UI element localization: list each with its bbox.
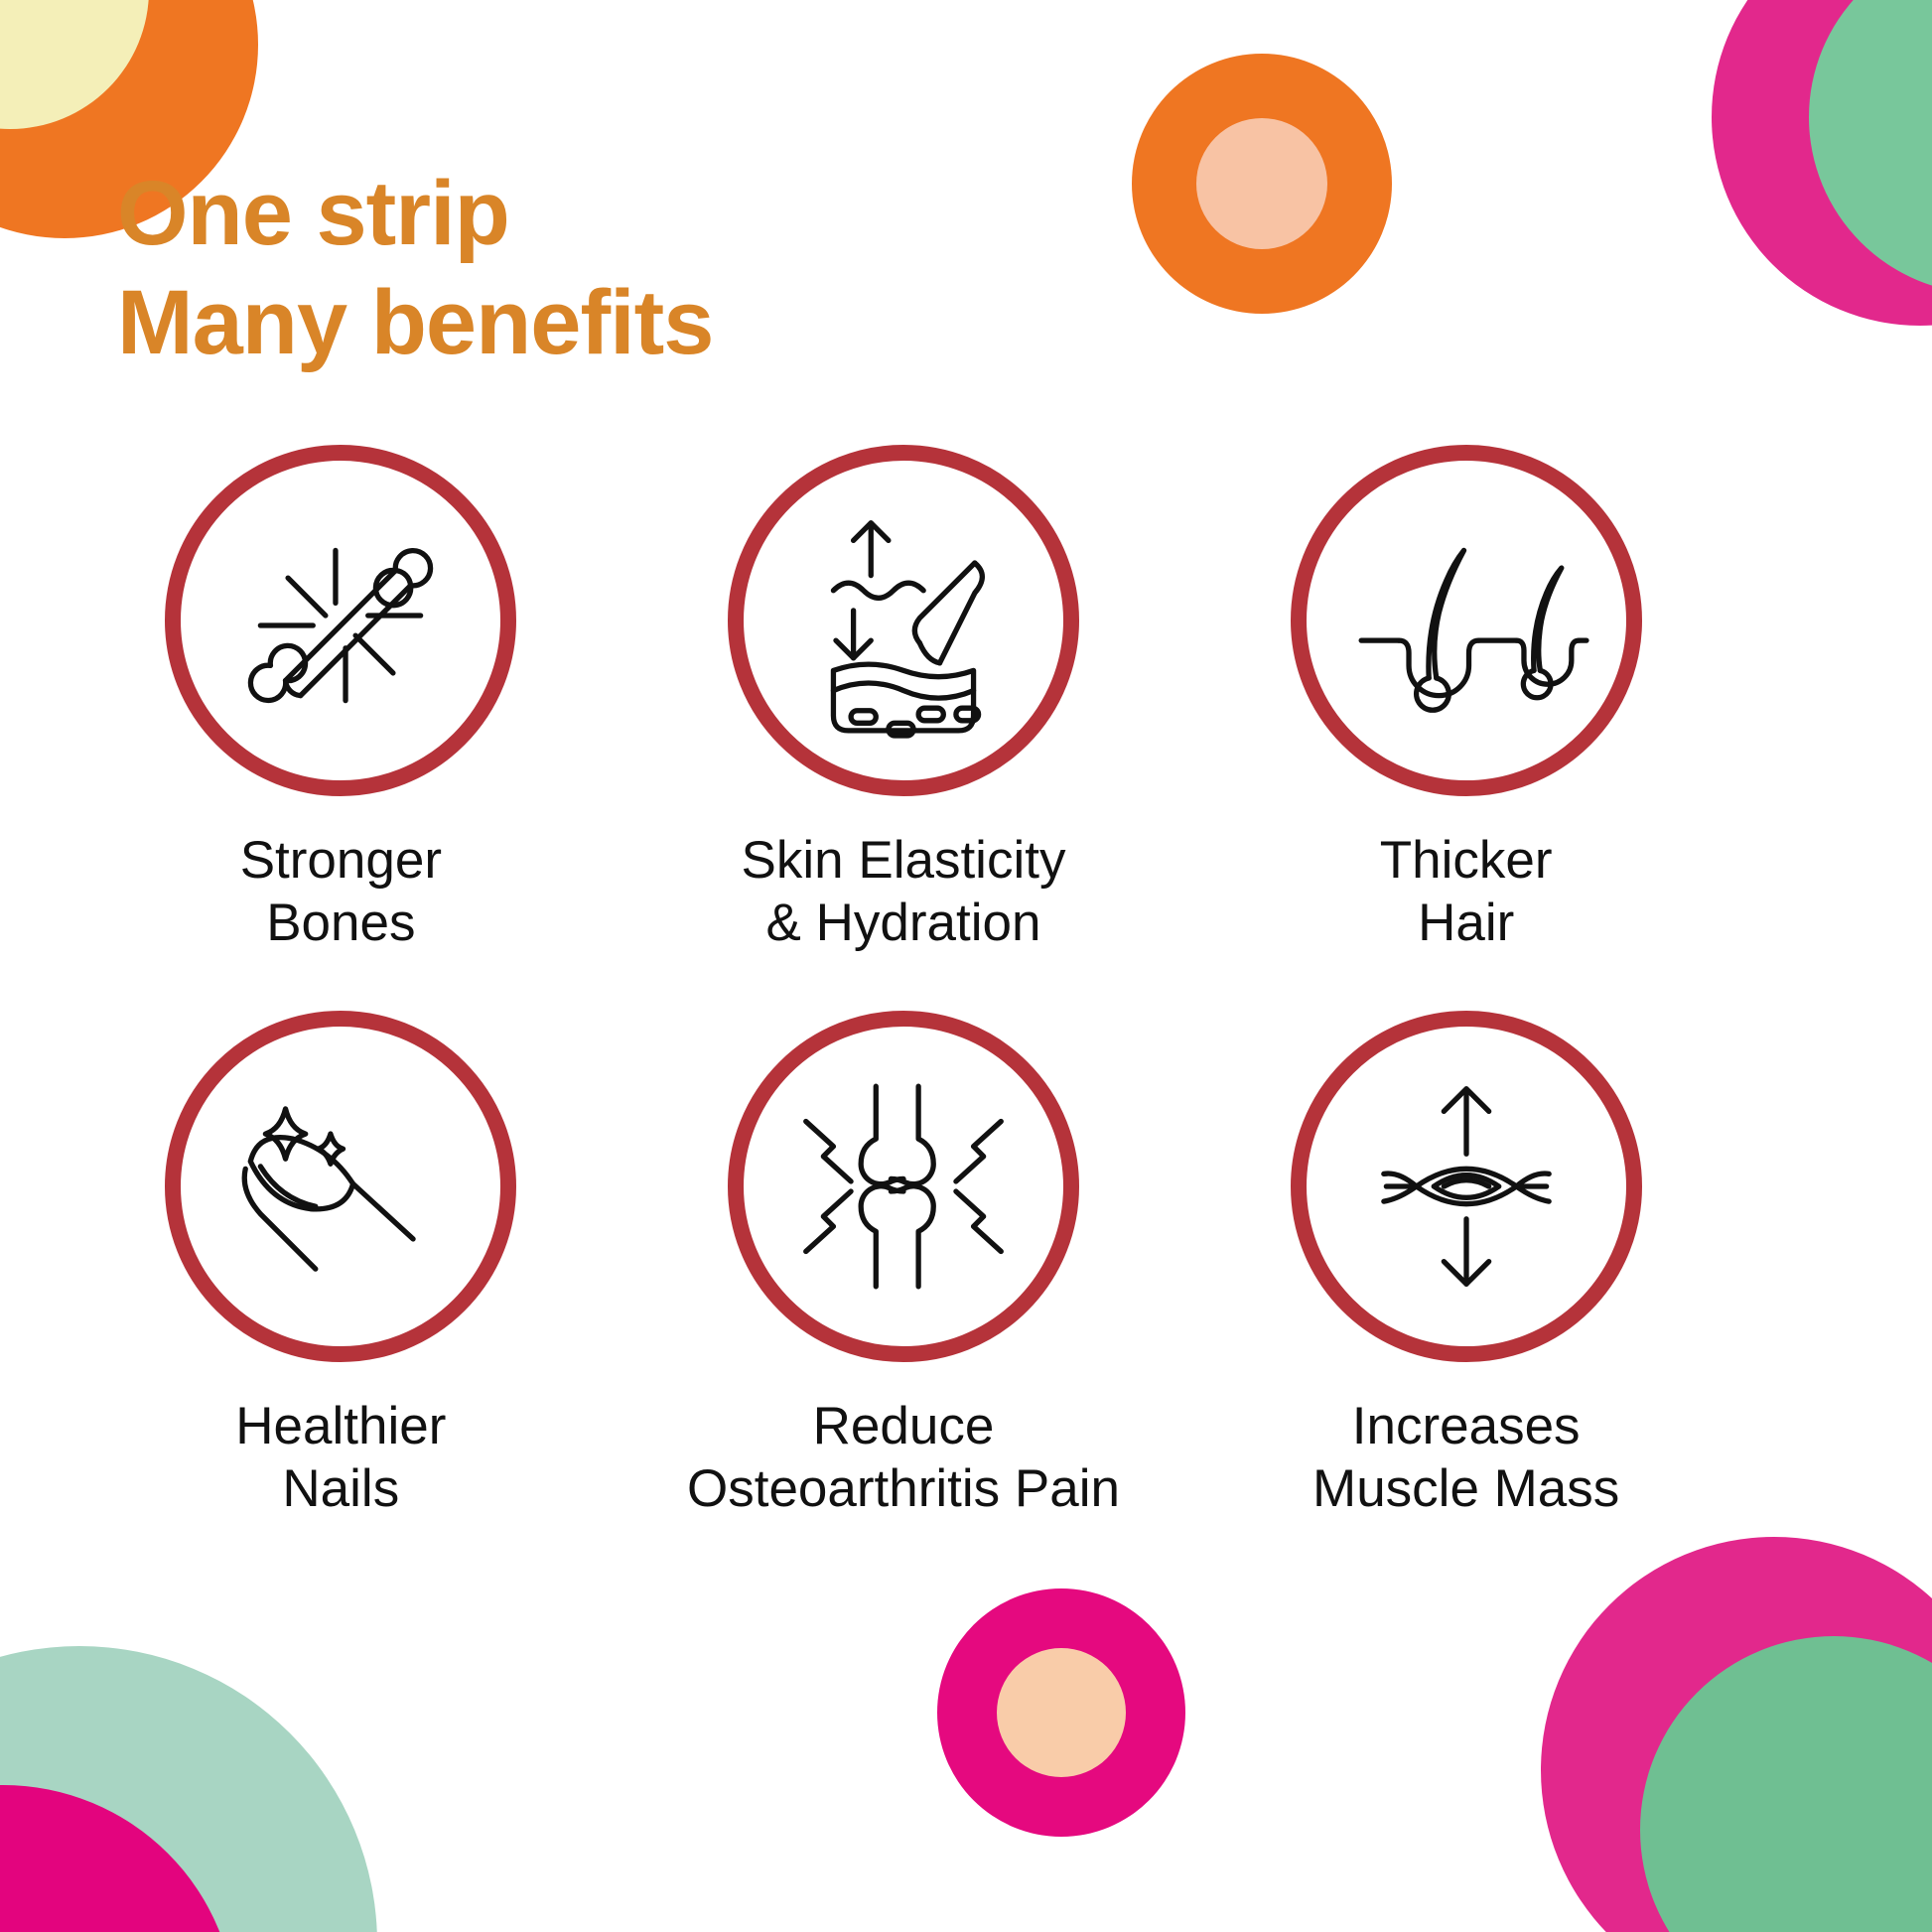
knee-joint-icon	[778, 1061, 1029, 1311]
bone-icon	[215, 495, 466, 746]
bottom-left-circle-outer	[0, 1646, 377, 1932]
bottom-left-circle-inner	[0, 1785, 236, 1932]
muscle-icon	[1341, 1061, 1591, 1311]
top-right-circle-inner	[1809, 0, 1932, 294]
benefit-item-muscle-mass: Increases Muscle Mass	[1184, 1011, 1747, 1567]
bottom-center-circle-outer	[937, 1588, 1185, 1837]
benefit-icon-badge	[1291, 1011, 1642, 1362]
benefit-item-healthier-nails: Healthier Nails	[60, 1011, 622, 1567]
headline-line-1: One strip	[117, 163, 509, 264]
top-right-circle-outer	[1712, 0, 1932, 326]
fingernail-icon	[215, 1061, 466, 1311]
benefit-item-osteoarthritis: Reduce Osteoarthritis Pain	[622, 1011, 1185, 1567]
benefit-icon-badge	[728, 1011, 1079, 1362]
benefit-icon-badge	[165, 445, 516, 796]
hair-follicle-icon	[1341, 495, 1591, 746]
bottom-right-circle-outer	[1541, 1537, 1932, 1932]
benefit-item-thicker-hair: Thicker Hair	[1184, 445, 1747, 1001]
benefit-label: Stronger Bones	[240, 830, 442, 954]
top-orange-circle-outer	[1132, 54, 1392, 314]
benefit-item-stronger-bones: Stronger Bones	[60, 445, 622, 1001]
bottom-right-circle-inner	[1640, 1636, 1932, 1932]
benefits-grid: Stronger Bones	[60, 445, 1747, 1567]
benefit-item-skin-elasticity: Skin Elasticity & Hydration	[622, 445, 1185, 1001]
bottom-center-circle-inner	[997, 1648, 1126, 1777]
benefit-icon-badge	[165, 1011, 516, 1362]
skin-elasticity-icon	[778, 495, 1029, 746]
benefit-label: Healthier Nails	[235, 1396, 446, 1520]
top-orange-circle-inner	[1196, 118, 1327, 249]
headline-line-2: Many benefits	[117, 272, 713, 373]
benefit-label: Increases Muscle Mass	[1312, 1396, 1619, 1520]
benefit-label: Reduce Osteoarthritis Pain	[687, 1396, 1120, 1520]
benefit-icon-badge	[1291, 445, 1642, 796]
page-title: One strip Many benefits	[117, 159, 713, 378]
benefit-label: Thicker Hair	[1380, 830, 1553, 954]
benefit-label: Skin Elasticity & Hydration	[742, 830, 1066, 954]
top-left-circle-inner	[0, 0, 149, 129]
benefit-icon-badge	[728, 445, 1079, 796]
benefits-infographic: One strip Many benefits	[0, 0, 1932, 1932]
